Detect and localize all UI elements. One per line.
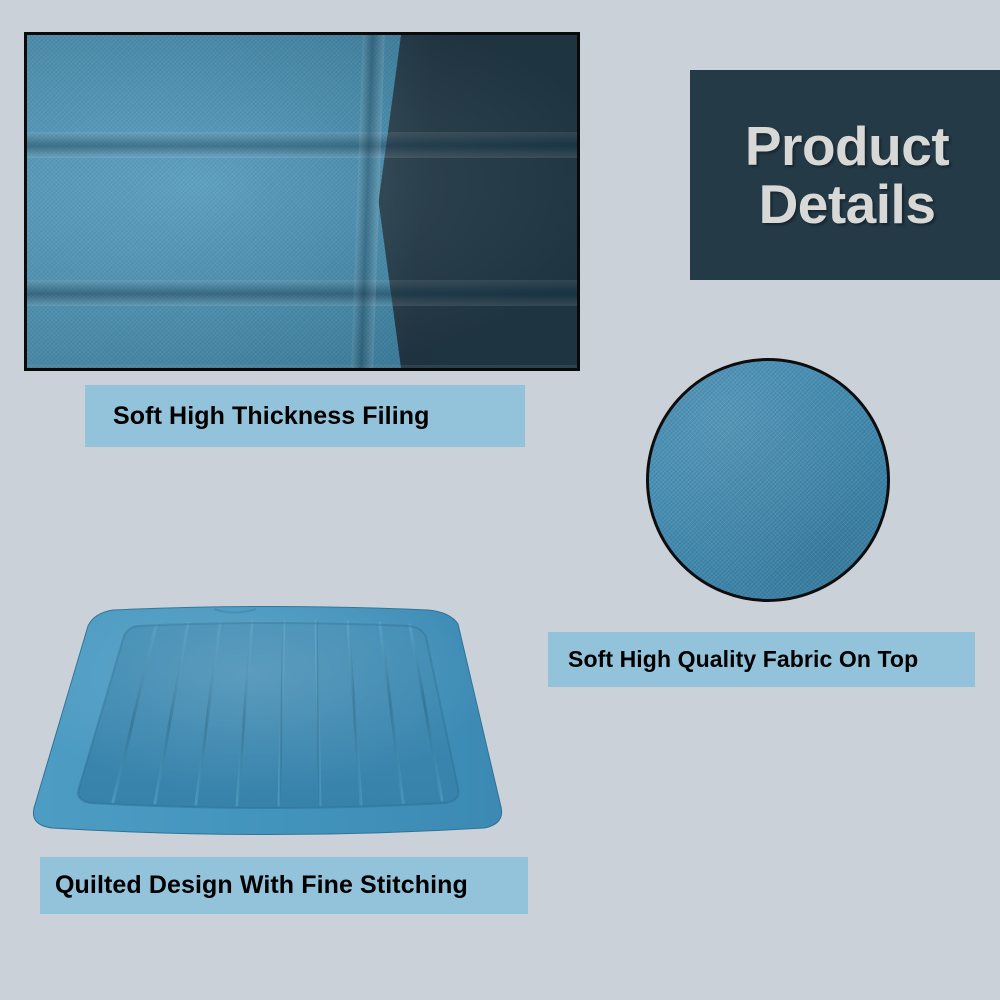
page-title-line-2: Details xyxy=(745,175,949,233)
mat-sheen xyxy=(33,607,501,835)
mat-illustration xyxy=(18,592,518,848)
closeup-fabric-surface xyxy=(27,35,401,368)
full-mat-photo xyxy=(18,592,518,848)
fabric-texture-overlay xyxy=(646,358,890,602)
caption-text-fabric: Soft High Quality Fabric On Top xyxy=(568,646,918,673)
caption-text-filling: Soft High Thickness Filing xyxy=(113,402,430,431)
caption-band-filling: Soft High Thickness Filing xyxy=(85,385,525,447)
product-details-header-panel: Product Details xyxy=(690,70,1000,280)
infographic-canvas: Soft High Thickness Filing Product Detai… xyxy=(0,0,1000,1000)
caption-band-fabric: Soft High Quality Fabric On Top xyxy=(548,632,975,687)
caption-text-quilting: Quilted Design With Fine Stitching xyxy=(55,871,468,900)
page-title: Product Details xyxy=(731,117,959,234)
quilted-closeup-photo xyxy=(24,32,580,371)
page-title-line-1: Product xyxy=(745,117,949,175)
caption-band-quilting: Quilted Design With Fine Stitching xyxy=(40,857,528,914)
fabric-swatch-circle-photo xyxy=(646,358,890,602)
